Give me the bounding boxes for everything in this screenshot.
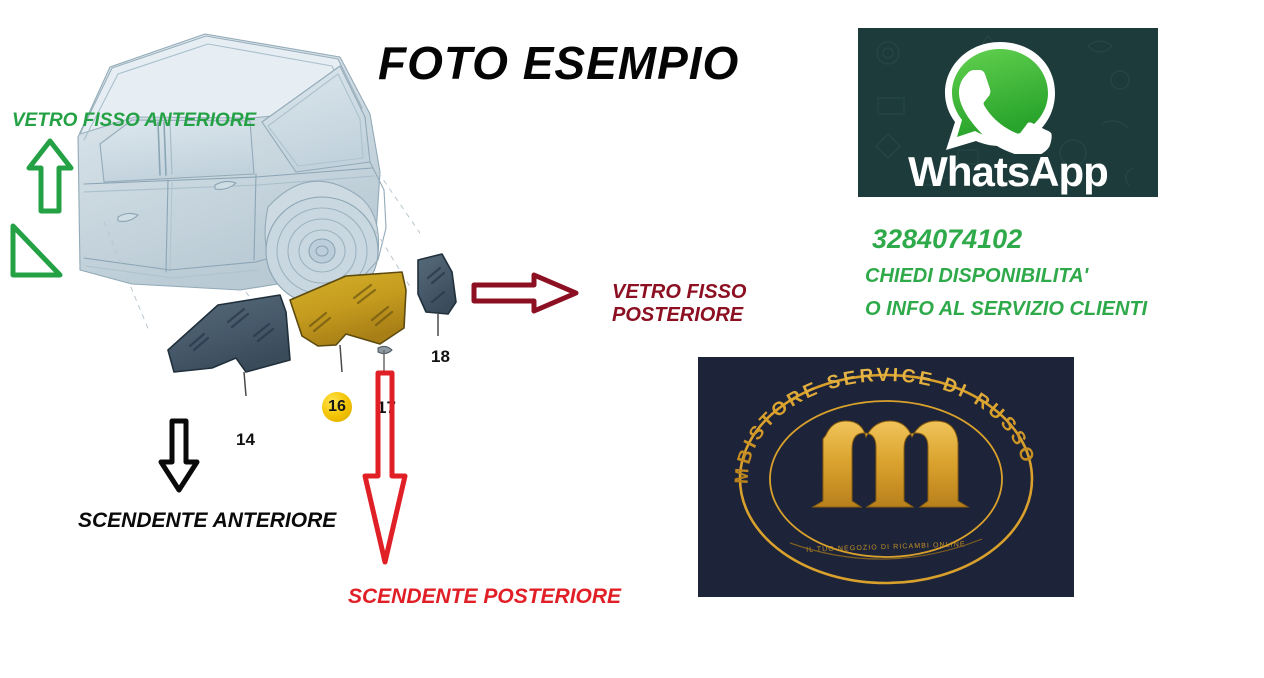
label-vetro-fisso-anteriore: VETRO FISSO ANTERIORE	[12, 110, 256, 132]
page-title: FOTO ESEMPIO	[378, 36, 798, 90]
whatsapp-wordmark: WhatsApp	[858, 148, 1158, 196]
label-scendente-anteriore: SCENDENTE ANTERIORE	[78, 509, 336, 533]
poster-canvas: FOTO ESEMPIO	[0, 0, 1264, 678]
green-triangle-icon	[8, 222, 64, 285]
whatsapp-cta-line1: CHIEDI DISPONIBILITA'	[865, 265, 1088, 288]
callout-16-badge: 16	[322, 392, 352, 422]
black-down-arrow-icon	[157, 418, 201, 499]
whatsapp-logo-icon	[936, 38, 1064, 154]
whatsapp-cta-line2: O INFO AL SERVIZIO CLIENTI	[865, 298, 1147, 321]
red-down-arrow-icon	[362, 370, 408, 571]
whatsapp-banner: WhatsApp	[858, 28, 1158, 197]
callout-14: 14	[236, 430, 255, 450]
green-up-arrow-icon	[26, 138, 74, 219]
label-vfp-line2: POSTERIORE	[612, 304, 746, 327]
callout-18: 18	[431, 347, 450, 367]
shop-logo: MRICAMBISTORE SERVICE DI RUSSO MARCO IL …	[698, 357, 1074, 597]
label-vetro-fisso-posteriore: VETRO FISSO POSTERIORE	[612, 281, 746, 327]
label-scendente-posteriore: SCENDENTE POSTERIORE	[348, 585, 621, 609]
label-vfp-line1: VETRO FISSO	[612, 281, 746, 304]
whatsapp-phone-number: 3284074102	[872, 224, 1022, 255]
maroon-right-arrow-icon	[470, 272, 580, 319]
glass-parts-illustration	[150, 250, 490, 440]
